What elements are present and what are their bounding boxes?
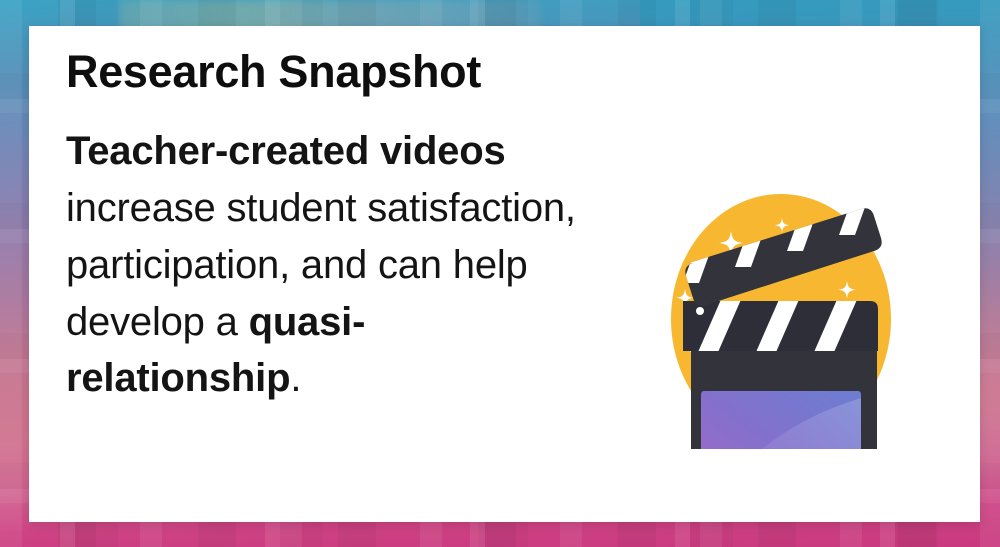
clapperboard-lower-stripes — [683, 295, 883, 359]
page-title: Research Snapshot — [66, 48, 586, 95]
content-card: Research Snapshot Teacher-created videos… — [29, 26, 980, 522]
body-run: . — [290, 356, 301, 400]
body-emphasis: Teacher-created videos — [66, 129, 506, 173]
text-column: Research Snapshot Teacher-created videos… — [66, 48, 586, 407]
film-clapperboard-icon — [665, 191, 897, 449]
body-paragraph: Teacher-created videos increase student … — [66, 123, 586, 407]
slide-canvas: Research Snapshot Teacher-created videos… — [0, 0, 1000, 547]
